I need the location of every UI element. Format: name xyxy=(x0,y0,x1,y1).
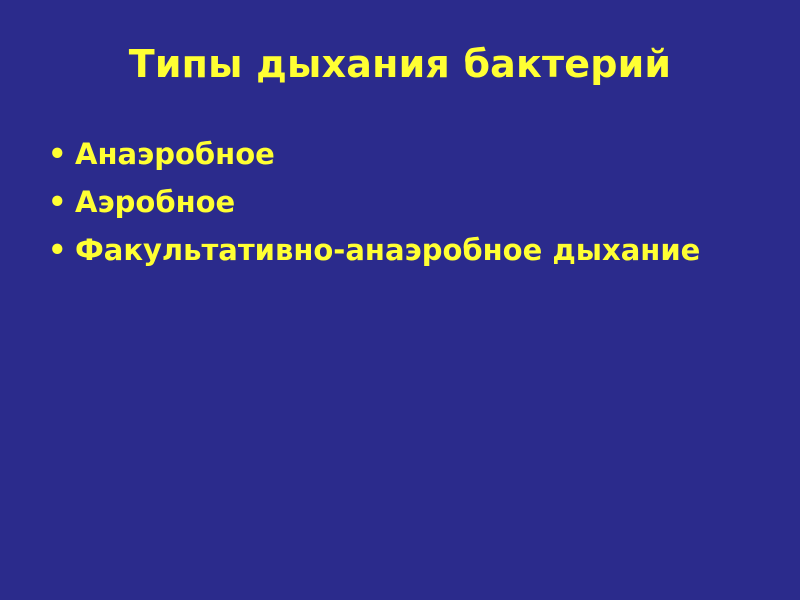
slide-title: Типы дыхания бактерий xyxy=(0,44,800,86)
list-item: • Анаэробное xyxy=(48,140,758,169)
list-item: • Факультативно-анаэробное дыхание xyxy=(48,236,758,265)
list-item-label: Анаэробное xyxy=(75,140,758,169)
presentation-slide: Типы дыхания бактерий • Анаэробное • Аэр… xyxy=(0,0,800,600)
bullet-point-icon: • xyxy=(48,140,75,169)
bullet-point-icon: • xyxy=(48,188,75,217)
bullet-list: • Анаэробное • Аэробное • Факультативно-… xyxy=(48,140,758,284)
list-item: • Аэробное xyxy=(48,188,758,217)
list-item-label: Факультативно-анаэробное дыхание xyxy=(75,236,758,265)
list-item-label: Аэробное xyxy=(75,188,758,217)
bullet-point-icon: • xyxy=(48,236,75,265)
